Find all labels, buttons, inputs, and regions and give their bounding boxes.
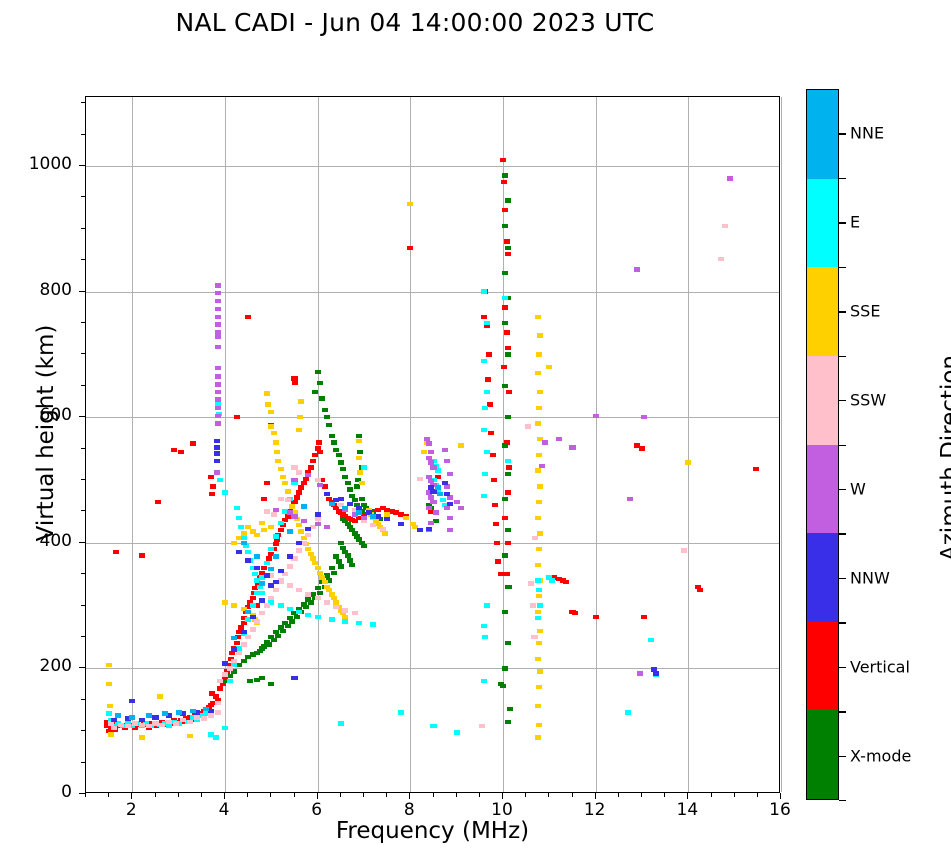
data-point-w: [627, 497, 633, 501]
y-tick: [79, 793, 85, 794]
data-point-x-mode: [502, 443, 508, 447]
data-point-nnw: [222, 661, 228, 665]
data-point-w: [215, 382, 221, 386]
colorbar-segment-nne: [807, 90, 838, 179]
data-point-x-mode: [502, 497, 508, 501]
data-point-ssw: [222, 672, 228, 676]
data-point-nne: [329, 502, 335, 506]
data-point-sse: [685, 460, 691, 464]
data-point-ssw: [173, 721, 179, 725]
data-point-ssw: [722, 224, 728, 228]
x-tick: [108, 793, 109, 797]
x-tick: [247, 793, 248, 797]
data-point-nnw: [139, 718, 145, 722]
data-point-w: [215, 283, 221, 287]
data-point-ssw: [273, 588, 279, 592]
data-point-w: [444, 459, 450, 463]
data-point-e: [315, 615, 321, 619]
data-point-sse: [187, 734, 193, 738]
data-point-ssw: [159, 723, 165, 727]
data-point-vertical: [208, 475, 214, 479]
data-point-e: [625, 710, 631, 714]
data-point-w: [426, 441, 432, 445]
data-point-x-mode: [505, 472, 511, 476]
data-point-e: [238, 525, 244, 529]
data-point-ssw: [271, 512, 277, 516]
data-point-sse: [322, 580, 328, 584]
data-point-w: [426, 506, 432, 510]
data-point-sse: [536, 406, 542, 410]
colorbar-label-w: W: [850, 479, 866, 498]
data-point-e: [481, 679, 487, 683]
data-point-nnw: [398, 522, 404, 526]
data-point-sse: [268, 410, 274, 414]
data-point-vertical: [563, 580, 569, 584]
data-point-vertical: [292, 381, 298, 385]
data-point-w: [315, 522, 321, 526]
data-point-sse: [537, 333, 543, 337]
y-tick: [79, 165, 85, 166]
data-point-w: [301, 519, 307, 523]
y-tick: [81, 134, 85, 135]
data-point-vertical: [639, 446, 645, 450]
data-point-nne: [176, 710, 182, 714]
data-point-sse: [356, 456, 362, 460]
plot-area: [85, 96, 780, 793]
x-tick: [155, 793, 156, 797]
data-point-nne: [342, 506, 348, 510]
x-axis-label: Frequency (MHz): [85, 818, 780, 844]
data-point-vertical: [486, 352, 492, 356]
data-point-vertical: [217, 686, 223, 690]
data-point-e: [481, 624, 487, 628]
data-point-vertical: [264, 481, 270, 485]
data-point-e: [268, 547, 274, 551]
x-tick: [409, 793, 410, 799]
y-tick: [79, 667, 85, 668]
data-point-sse: [222, 600, 228, 604]
colorbar-segment-nnw: [807, 533, 838, 622]
data-point-x-mode: [361, 544, 367, 548]
data-point-ssw: [285, 498, 291, 502]
data-point-sse: [315, 566, 321, 570]
data-point-w: [458, 506, 464, 510]
data-point-e: [296, 610, 302, 614]
data-point-vertical: [500, 158, 506, 162]
data-point-ssw: [217, 679, 223, 683]
data-point-w: [214, 470, 220, 474]
data-point-nnw: [273, 580, 279, 584]
data-point-x-mode: [285, 624, 291, 628]
data-point-e: [273, 534, 279, 538]
data-point-x-mode: [345, 481, 351, 485]
data-point-x-mode: [502, 666, 508, 670]
colorbar-tick: [839, 489, 846, 490]
y-tick: [81, 448, 85, 449]
data-point-vertical: [572, 611, 578, 615]
colorbar-boundary-tick: [839, 533, 846, 534]
y-tick: [81, 259, 85, 260]
data-point-nnw: [287, 554, 293, 558]
data-point-x-mode: [331, 440, 337, 444]
colorbar-boundary-tick: [839, 445, 846, 446]
data-point-w: [569, 445, 575, 449]
data-point-nne: [146, 713, 152, 717]
data-point-w: [215, 421, 221, 425]
data-point-sse: [535, 371, 541, 375]
data-point-x-mode: [329, 566, 335, 570]
data-point-x-mode: [505, 528, 511, 532]
data-point-sse: [157, 694, 163, 698]
data-point-e: [502, 296, 508, 300]
colorbar-tick: [839, 133, 846, 134]
data-point-ssw: [352, 611, 358, 615]
data-point-sse: [106, 682, 112, 686]
data-point-e: [259, 591, 265, 595]
data-point-e: [454, 730, 460, 734]
data-point-w: [291, 514, 297, 518]
scatter-points-layer: [86, 97, 779, 792]
data-point-e: [241, 536, 247, 540]
data-point-e: [278, 521, 284, 525]
data-point-nne: [437, 492, 443, 496]
data-point-vertical: [501, 180, 507, 184]
x-tick: [433, 793, 434, 797]
data-point-x-mode: [340, 467, 346, 471]
data-point-nne: [245, 610, 251, 614]
y-tick: [81, 479, 85, 480]
data-point-vertical: [234, 415, 240, 419]
data-point-w: [215, 299, 221, 303]
y-tick: [81, 510, 85, 511]
data-point-e: [481, 428, 487, 432]
x-tick-label: 12: [565, 800, 625, 820]
data-point-sse: [357, 470, 363, 474]
data-point-vertical: [139, 553, 145, 557]
data-point-vertical: [488, 431, 494, 435]
data-point-ssw: [528, 581, 534, 585]
data-point-nnw: [231, 647, 237, 651]
y-tick: [81, 573, 85, 574]
data-point-ssw: [201, 716, 207, 720]
data-point-vertical: [504, 239, 510, 243]
data-point-x-mode: [349, 563, 355, 567]
data-point-vertical: [491, 478, 497, 482]
data-point-vertical: [178, 450, 184, 454]
data-point-vertical: [493, 522, 499, 526]
y-tick: [81, 196, 85, 197]
data-point-sse: [536, 723, 542, 727]
data-point-w: [447, 516, 453, 520]
data-point-x-mode: [345, 553, 351, 557]
data-point-vertical: [308, 465, 314, 469]
data-point-x-mode: [500, 684, 506, 688]
data-point-ssw: [254, 619, 260, 623]
colorbar-tick: [839, 667, 846, 668]
data-point-x-mode: [357, 450, 363, 454]
data-point-e: [222, 726, 228, 730]
data-point-sse: [139, 735, 145, 739]
y-tick-label: 200: [0, 656, 72, 676]
colorbar-title: Azimuth Direction: [937, 288, 951, 628]
data-point-ssw: [287, 564, 293, 568]
data-point-sse: [278, 467, 284, 471]
data-point-sse: [537, 629, 543, 633]
data-point-vertical: [485, 377, 491, 381]
data-point-sse: [268, 424, 274, 428]
data-point-w: [444, 506, 450, 510]
data-point-ssw: [324, 600, 330, 604]
data-point-ssw: [118, 723, 124, 727]
data-point-x-mode: [347, 487, 353, 491]
data-point-w: [361, 516, 367, 520]
data-point-w: [727, 176, 733, 180]
colorbar-tick: [839, 578, 846, 579]
data-point-vertical: [593, 615, 599, 619]
data-point-nnw: [305, 527, 311, 531]
x-tick-label: 8: [379, 800, 439, 820]
x-tick-label: 6: [287, 800, 347, 820]
data-point-x-mode: [502, 173, 508, 177]
data-point-nne: [190, 709, 196, 713]
data-point-vertical: [481, 315, 487, 319]
data-point-sse: [535, 610, 541, 614]
data-point-x-mode: [505, 246, 511, 250]
data-point-vertical: [210, 484, 216, 488]
data-point-nnw: [214, 451, 220, 455]
data-point-ssw: [146, 724, 152, 728]
data-point-nnw: [264, 573, 270, 577]
data-point-vertical: [505, 490, 511, 494]
data-point-sse: [535, 657, 541, 661]
data-point-sse: [312, 561, 318, 565]
data-point-ssw: [315, 517, 321, 521]
data-point-e: [440, 498, 446, 502]
data-point-ssw: [111, 726, 117, 730]
x-tick: [317, 793, 318, 799]
data-point-sse: [296, 428, 302, 432]
data-point-ssw: [278, 497, 284, 501]
data-point-nne: [301, 504, 307, 508]
y-tick-label: 0: [0, 782, 72, 802]
colorbar-tick: [839, 311, 846, 312]
data-point-e: [264, 561, 270, 565]
data-point-vertical: [505, 541, 511, 545]
x-tick: [711, 793, 712, 797]
x-tick: [85, 793, 86, 797]
data-point-sse: [275, 459, 281, 463]
data-point-sse: [537, 484, 543, 488]
data-point-w: [215, 366, 221, 370]
data-point-ssw: [259, 611, 265, 615]
data-point-w: [430, 465, 436, 469]
y-tick: [79, 416, 85, 417]
data-point-x-mode: [336, 559, 342, 563]
data-point-sse: [298, 399, 304, 403]
data-point-e: [536, 588, 542, 592]
data-point-nnw: [236, 550, 242, 554]
data-point-sse: [536, 500, 542, 504]
data-point-sse: [536, 594, 542, 598]
data-point-sse: [264, 391, 270, 395]
colorbar-label-sse: SSE: [850, 302, 880, 321]
data-point-nnw: [444, 492, 450, 496]
data-point-sse: [536, 641, 542, 645]
data-point-vertical: [155, 500, 161, 504]
data-point-w: [447, 528, 453, 532]
y-tick: [79, 291, 85, 292]
colorbar-tick: [839, 222, 846, 223]
data-point-sse: [536, 453, 542, 457]
data-point-e: [338, 721, 344, 725]
data-point-sse: [231, 603, 237, 607]
data-point-e: [245, 550, 251, 554]
data-point-nne: [259, 581, 265, 585]
data-point-sse: [282, 481, 288, 485]
colorbar-boundary-tick: [839, 356, 846, 357]
data-point-ssw: [215, 701, 221, 705]
data-point-x-mode: [312, 390, 318, 394]
data-point-e: [342, 619, 348, 623]
data-point-e: [482, 635, 488, 639]
data-point-ssw: [333, 605, 339, 609]
data-point-x-mode: [505, 198, 511, 202]
data-point-x-mode: [322, 408, 328, 412]
data-point-vertical: [261, 497, 267, 501]
data-point-nnw: [250, 615, 256, 619]
data-point-nne: [231, 636, 237, 640]
colorbar-segment-vertical: [807, 622, 838, 711]
data-point-vertical: [505, 346, 511, 350]
data-point-nne: [273, 554, 279, 558]
data-point-vertical: [190, 441, 196, 445]
data-point-x-mode: [333, 448, 339, 452]
page-title: NAL CADI - Jun 04 14:00:00 2023 UTC: [0, 8, 830, 37]
data-point-nne: [356, 510, 362, 514]
x-tick: [664, 793, 665, 797]
data-point-vertical: [697, 588, 703, 592]
data-point-nne: [203, 707, 209, 711]
data-point-vertical: [407, 246, 413, 250]
data-point-x-mode: [336, 453, 342, 457]
data-point-ssw: [215, 710, 221, 714]
data-point-nnw: [129, 699, 135, 703]
data-point-vertical: [303, 477, 309, 481]
data-point-x-mode: [315, 586, 321, 590]
data-point-ssw: [166, 720, 172, 724]
data-point-vertical: [234, 641, 240, 645]
data-point-nnw: [214, 439, 220, 443]
data-point-ssw: [241, 642, 247, 646]
colorbar-boundary-tick: [839, 622, 846, 623]
data-point-w: [634, 267, 640, 271]
data-point-sse: [298, 529, 304, 533]
data-point-vertical: [241, 621, 247, 625]
y-tick: [81, 636, 85, 637]
data-point-sse: [382, 531, 388, 535]
data-point-vertical: [505, 252, 511, 256]
data-point-nnw: [214, 459, 220, 463]
data-point-w: [428, 460, 434, 464]
data-point-nne: [115, 713, 121, 717]
data-point-w: [291, 478, 297, 482]
data-point-vertical: [495, 559, 501, 563]
data-point-x-mode: [319, 396, 325, 400]
data-point-vertical: [310, 459, 316, 463]
data-point-e: [370, 622, 376, 626]
data-point-sse: [535, 735, 541, 739]
data-point-w: [215, 335, 221, 339]
data-point-ssw: [296, 470, 302, 474]
data-point-w: [215, 307, 221, 311]
data-point-w: [215, 291, 221, 295]
data-point-nne: [241, 541, 247, 545]
data-point-ssw: [718, 257, 724, 261]
data-point-sse: [259, 521, 265, 525]
data-point-ssw: [152, 721, 158, 725]
data-point-ssw: [417, 477, 423, 481]
x-tick: [479, 793, 480, 797]
data-point-x-mode: [505, 641, 511, 645]
data-point-w: [442, 448, 448, 452]
data-point-nnw: [430, 489, 436, 493]
x-tick: [734, 793, 735, 797]
data-point-w: [317, 483, 323, 487]
colorbar-tick: [839, 756, 846, 757]
data-point-e: [481, 289, 487, 293]
data-point-ssw: [287, 583, 293, 587]
data-point-nnw: [254, 566, 260, 570]
data-point-e: [278, 603, 284, 607]
colorbar-segment-x-mode: [807, 710, 838, 799]
data-point-ssw: [208, 713, 214, 717]
data-point-x-mode: [280, 629, 286, 633]
data-point-sse: [535, 516, 541, 520]
x-tick: [595, 793, 596, 799]
data-point-vertical: [502, 208, 508, 212]
colorbar-label-ssw: SSW: [850, 391, 886, 410]
data-point-ssw: [305, 533, 311, 537]
data-point-sse: [458, 443, 464, 447]
data-point-nnw: [245, 558, 251, 562]
data-point-x-mode: [329, 434, 335, 438]
data-point-x-mode: [502, 321, 508, 325]
data-point-e: [217, 478, 223, 482]
data-point-nne: [162, 711, 168, 715]
data-point-ssw: [231, 659, 237, 663]
data-point-w: [433, 510, 439, 514]
data-point-w: [593, 414, 599, 418]
data-point-w: [215, 345, 221, 349]
data-point-e: [535, 616, 541, 620]
data-point-nne: [254, 554, 260, 558]
data-point-w: [215, 390, 221, 394]
colorbar-label-nne: NNE: [850, 124, 884, 143]
data-point-x-mode: [356, 434, 362, 438]
data-point-w: [215, 406, 221, 410]
x-tick: [131, 793, 132, 799]
data-point-w: [215, 315, 221, 319]
data-point-nnw: [447, 502, 453, 506]
data-point-ssw: [180, 718, 186, 722]
x-tick: [294, 793, 295, 797]
colorbar: [806, 89, 839, 800]
y-tick: [81, 699, 85, 700]
data-point-sse: [407, 202, 413, 206]
data-point-sse: [254, 533, 260, 537]
data-point-sse: [108, 732, 114, 736]
data-point-sse: [271, 431, 277, 435]
